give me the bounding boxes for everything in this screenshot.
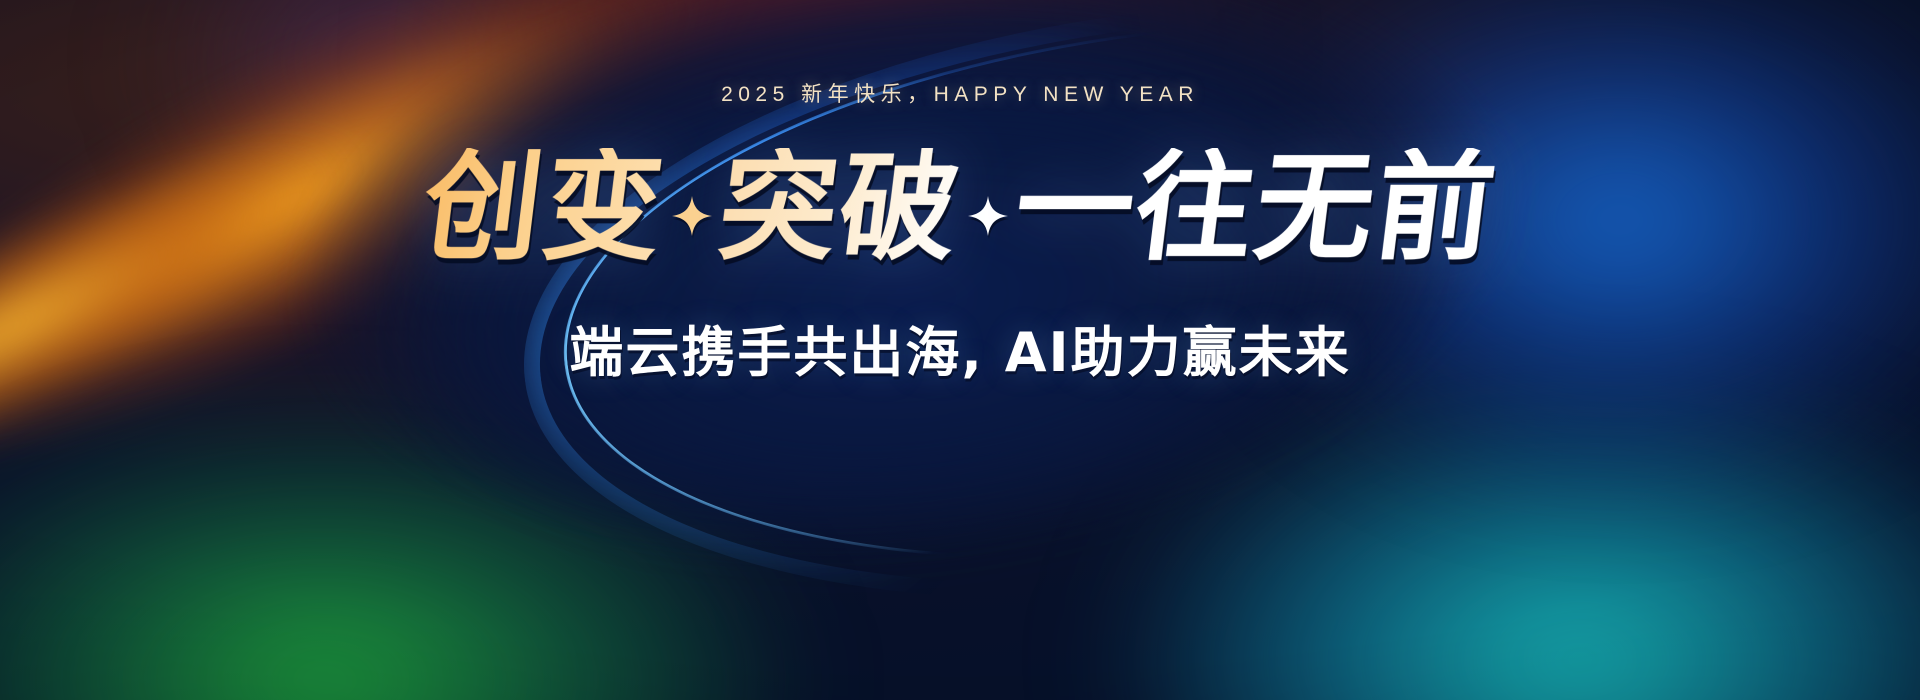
sparkle-gold-icon [672, 196, 712, 236]
banner-content: 2025 新年快乐，HAPPY NEW YEAR 创变 突破 一往无前 端云携手… [0, 0, 1920, 700]
title-word-chuangbian: 创变 [415, 148, 674, 266]
new-year-hero-banner: 2025 新年快乐，HAPPY NEW YEAR 创变 突破 一往无前 端云携手… [0, 0, 1920, 700]
banner-title: 创变 突破 一往无前 [422, 148, 1498, 266]
title-word-yiwangwuqian: 一往无前 [1007, 148, 1506, 266]
banner-subtitle-text: 端云携手共出海, AI助力赢未来 [569, 308, 1350, 387]
sparkle-white-icon [968, 196, 1008, 236]
title-word-tupo: 突破 [711, 148, 970, 266]
banner-eyebrow-text: 2025 新年快乐，HAPPY NEW YEAR [721, 78, 1199, 108]
